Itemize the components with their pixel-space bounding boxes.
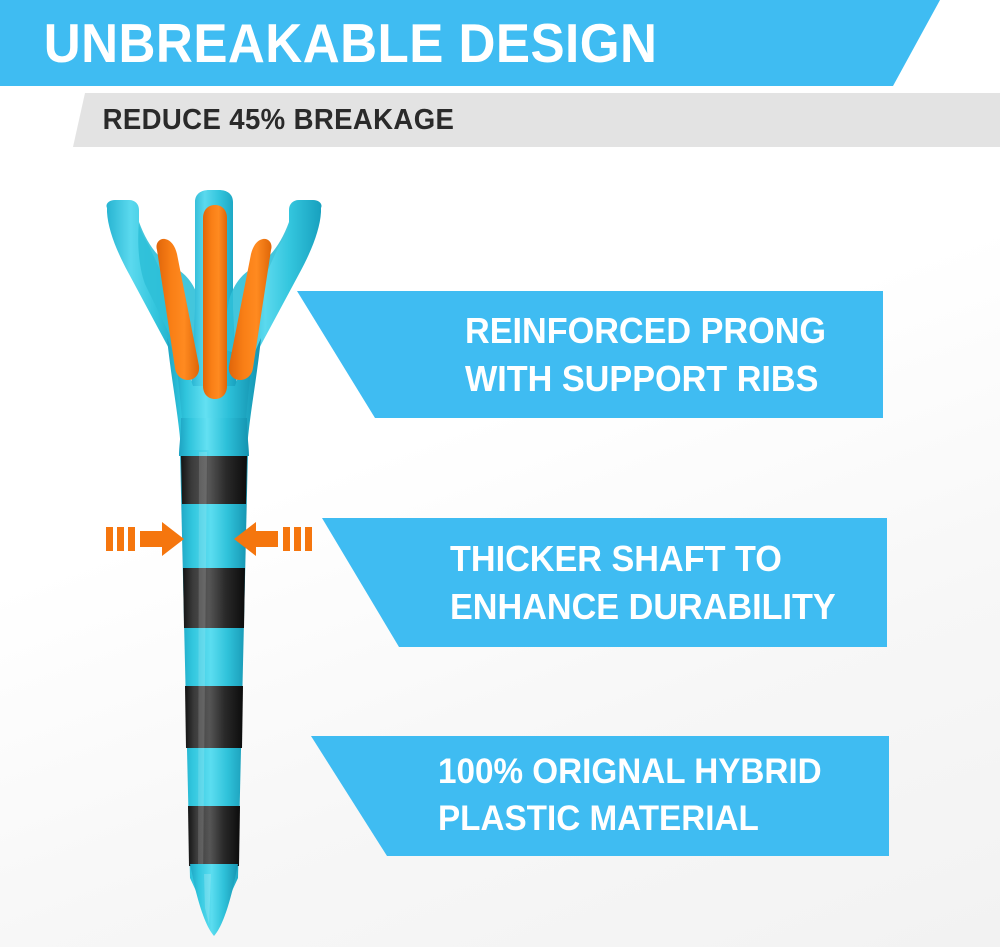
left-arrow-icon xyxy=(140,522,184,556)
header: UNBREAKABLE DESIGN REDUCE 45% BREAKAGE xyxy=(0,0,1000,160)
left-dash-3 xyxy=(128,527,135,551)
right-dash-1 xyxy=(283,527,290,551)
right-arrow-icon xyxy=(234,522,278,556)
left-dash-1 xyxy=(106,527,113,551)
callout-reinforced-prong: REINFORCED PRONG WITH SUPPORT RIBS xyxy=(297,291,883,418)
infographic-poster: UNBREAKABLE DESIGN REDUCE 45% BREAKAGE xyxy=(0,0,1000,947)
compression-arrows xyxy=(104,516,314,566)
callout-plastic-material: 100% ORIGNAL HYBRID PLASTIC MATERIAL xyxy=(311,736,889,856)
shaft-band-black-1 xyxy=(181,456,247,504)
shaft-band-black-2 xyxy=(183,568,245,628)
callout-3-line-2: PLASTIC MATERIAL xyxy=(438,796,866,843)
page-title: UNBREAKABLE DESIGN xyxy=(0,16,657,71)
subtitle-banner: REDUCE 45% BREAKAGE xyxy=(0,93,1000,147)
callout-thicker-shaft: THICKER SHAFT TO ENHANCE DURABILITY xyxy=(322,518,887,647)
callout-1-line-1: REINFORCED PRONG xyxy=(465,307,862,355)
tee-tip xyxy=(190,864,238,936)
subtitle-text: REDUCE 45% BREAKAGE xyxy=(0,104,454,137)
shaft-band-black-3 xyxy=(185,686,243,748)
callout-3-line-1: 100% ORIGNAL HYBRID xyxy=(438,749,866,796)
callout-2-line-2: ENHANCE DURABILITY xyxy=(450,583,865,631)
callout-1-line-2: WITH SUPPORT RIBS xyxy=(465,355,862,403)
title-banner: UNBREAKABLE DESIGN xyxy=(0,0,940,86)
right-dash-2 xyxy=(294,527,301,551)
right-dash-3 xyxy=(305,527,312,551)
shaft-band-black-4 xyxy=(188,806,240,866)
left-dash-2 xyxy=(117,527,124,551)
callout-2-line-1: THICKER SHAFT TO xyxy=(450,535,865,583)
